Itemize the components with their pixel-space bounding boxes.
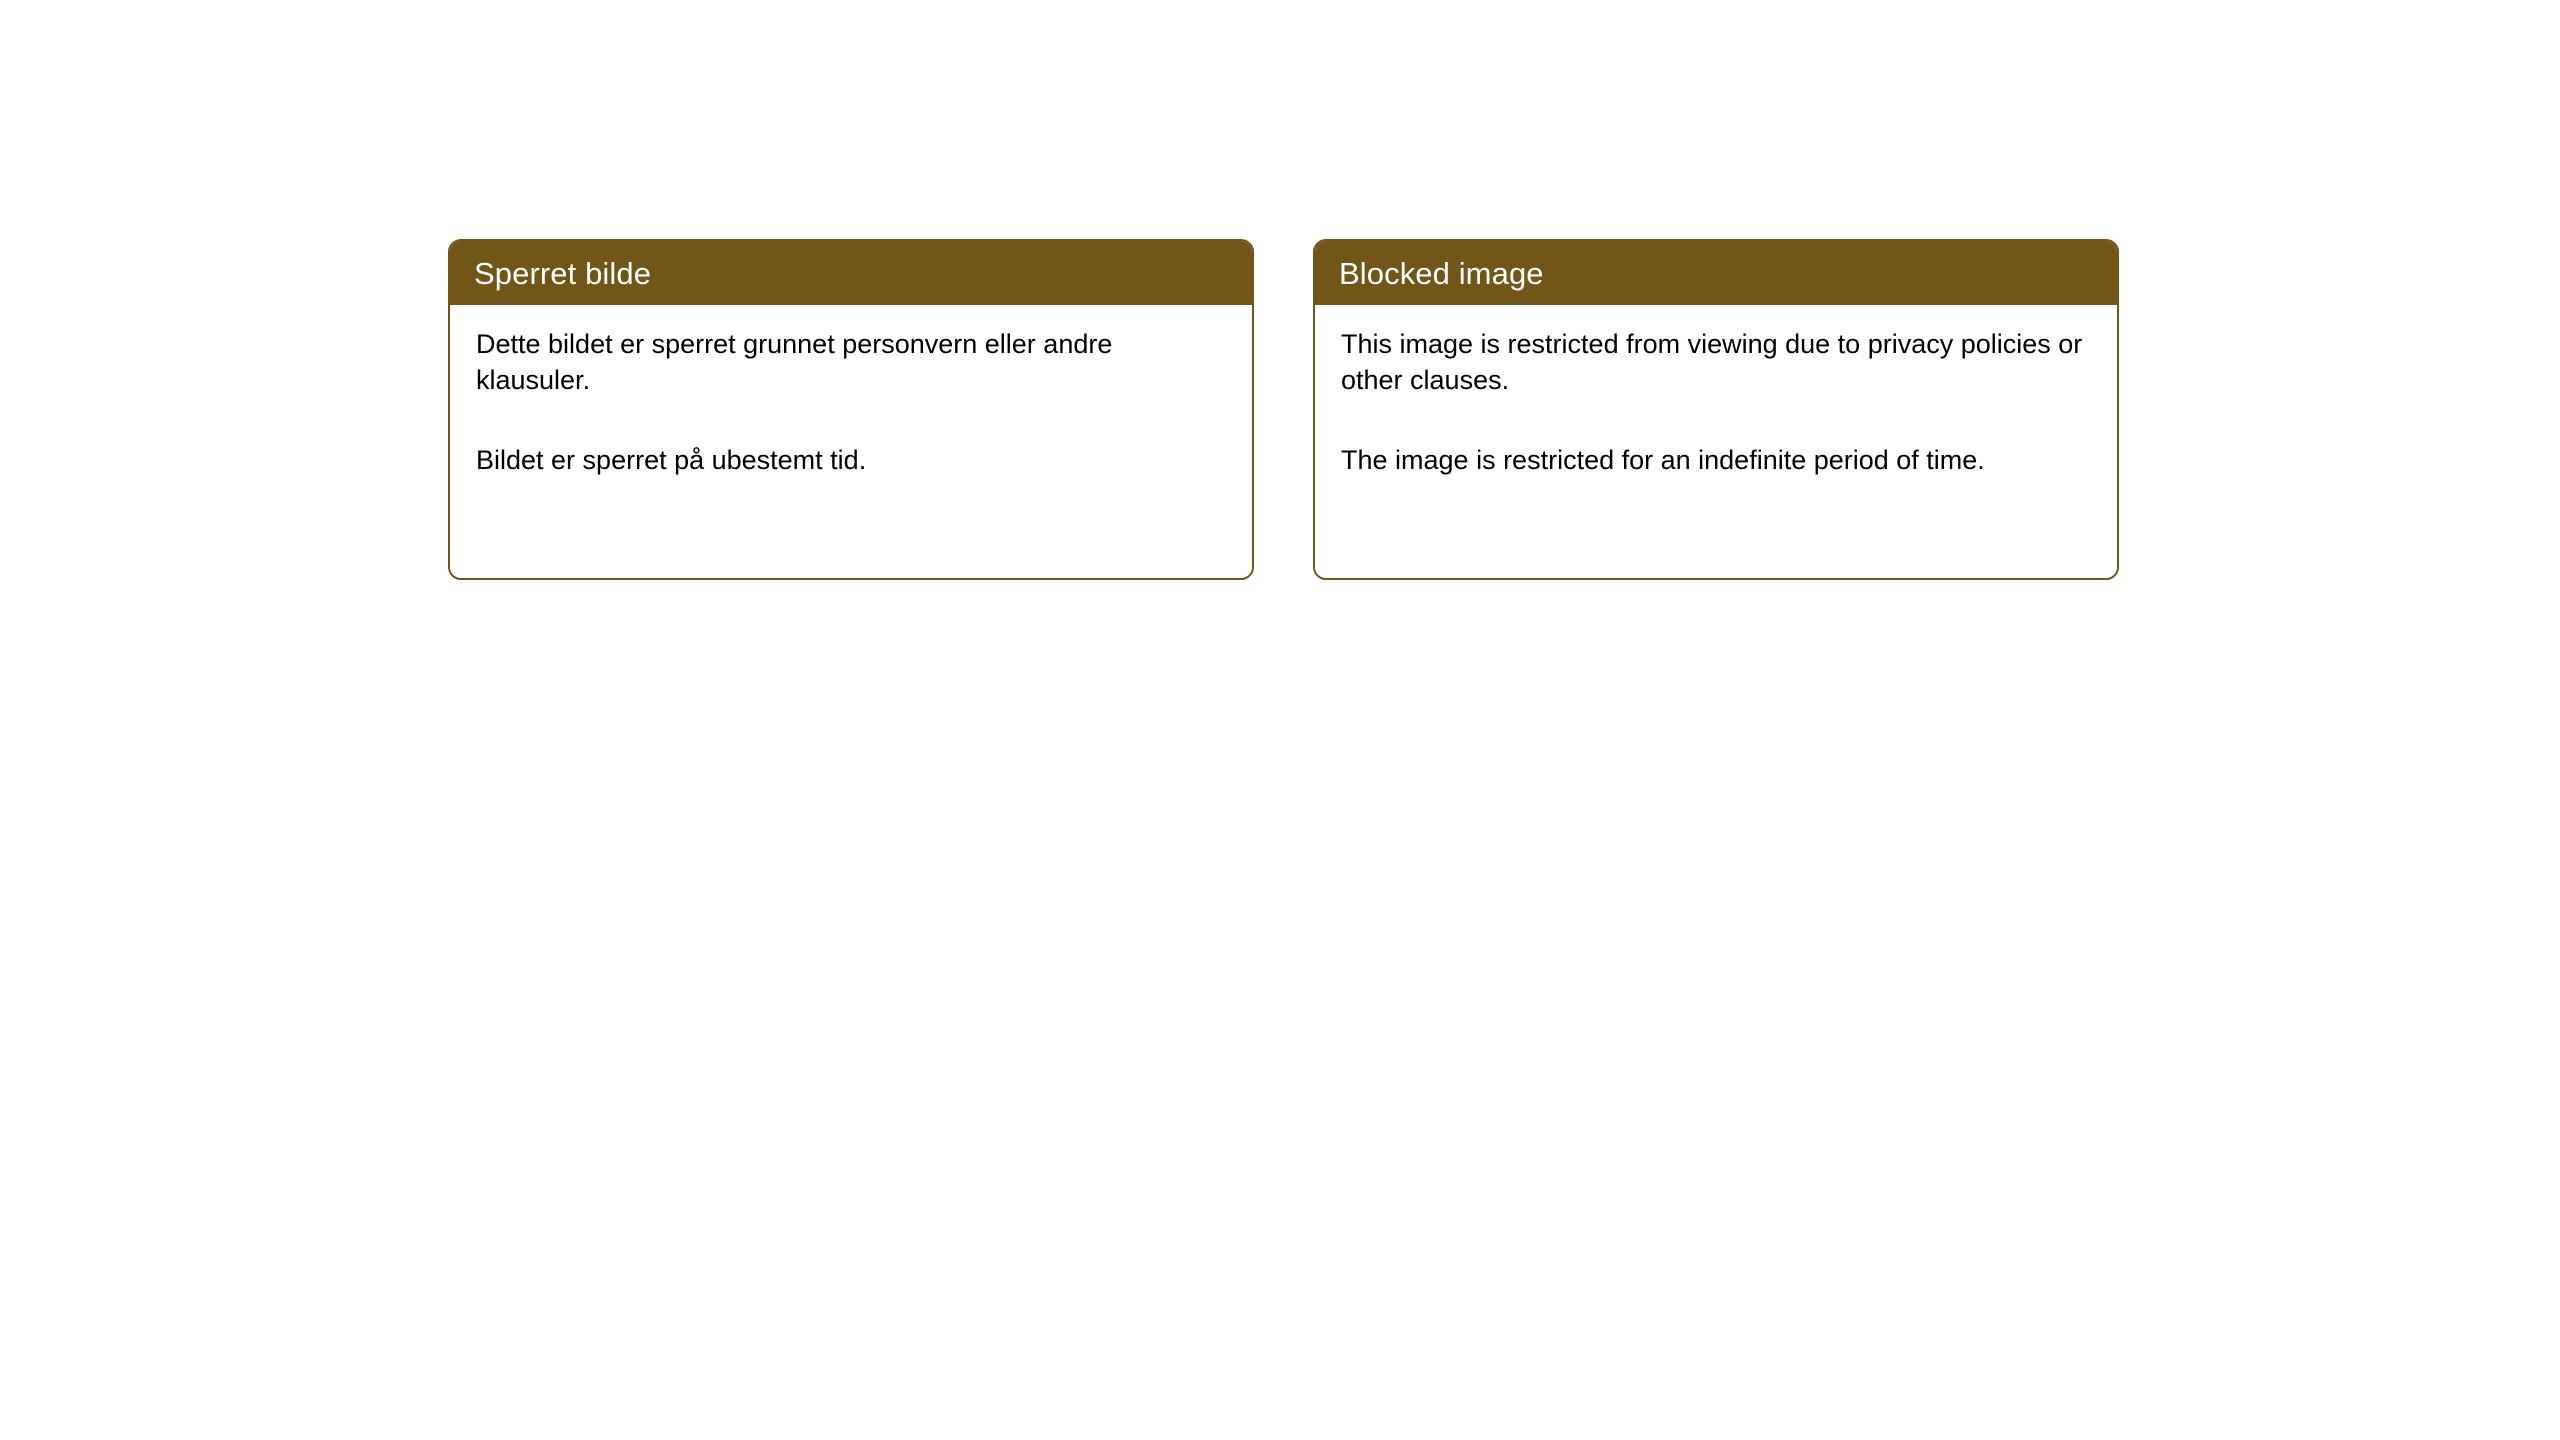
- blocked-image-notice-card-en: Blocked image This image is restricted f…: [1313, 239, 2119, 580]
- notice-paragraph-reason-en: This image is restricted from viewing du…: [1341, 327, 2091, 399]
- notice-header-no: Sperret bilde: [450, 241, 1252, 305]
- notice-title-en: Blocked image: [1339, 258, 1544, 289]
- notice-body-en: This image is restricted from viewing du…: [1315, 305, 2117, 578]
- notice-header-en: Blocked image: [1315, 241, 2117, 305]
- notice-title-no: Sperret bilde: [474, 258, 651, 289]
- notice-body-no: Dette bildet er sperret grunnet personve…: [450, 305, 1252, 578]
- notice-paragraph-reason-no: Dette bildet er sperret grunnet personve…: [476, 327, 1226, 399]
- notice-paragraph-duration-no: Bildet er sperret på ubestemt tid.: [476, 443, 1226, 479]
- page-root: Sperret bilde Dette bildet er sperret gr…: [0, 0, 2560, 1440]
- blocked-image-notice-card-no: Sperret bilde Dette bildet er sperret gr…: [448, 239, 1254, 580]
- notice-paragraph-duration-en: The image is restricted for an indefinit…: [1341, 443, 2091, 479]
